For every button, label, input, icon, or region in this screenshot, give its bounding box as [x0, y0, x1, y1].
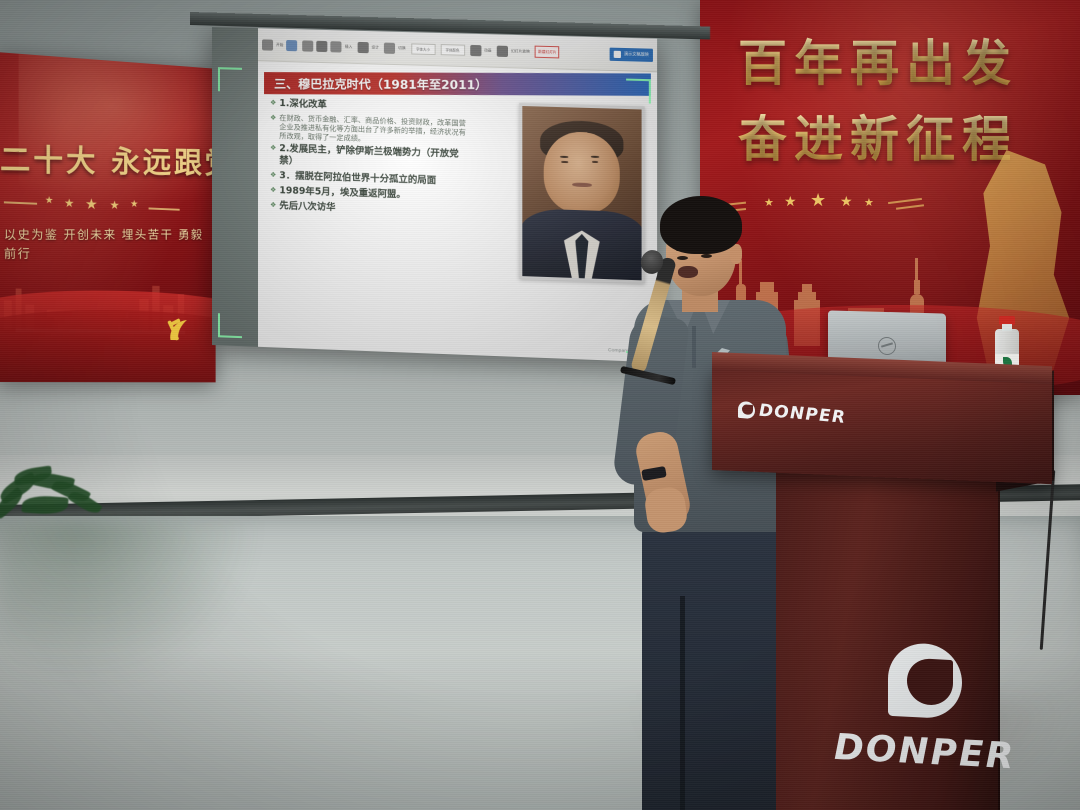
lectern: DONPER DONPER	[712, 352, 1052, 810]
lecture-hall-photo: 迎二十大 永远跟党走 ★ ★ ★ ★ ★ 以史为鉴 开创未来 埋头苦干 勇毅前行	[0, 0, 1080, 810]
account-avatar-icon	[614, 50, 621, 57]
lectern-brand-large: DONPER	[834, 639, 1015, 777]
shirt-placket	[692, 326, 696, 368]
list-item: ❖ 2.发展民主，铲除伊斯兰极端势力（开放党禁）	[270, 143, 467, 173]
lectern-column: DONPER	[776, 464, 998, 810]
portrait-face	[544, 130, 620, 214]
hammer-sickle-icon	[163, 311, 199, 350]
bullet-text: 1989年5月，埃及重返阿盟。	[279, 185, 405, 201]
potted-plant	[0, 452, 132, 532]
banner-left: 迎二十大 永远跟党走 ★ ★ ★ ★ ★ 以史为鉴 开创未来 埋头苦干 勇毅前行	[0, 52, 216, 382]
cut-icon[interactable]	[262, 39, 273, 50]
ribbon-group-transition[interactable]: 切换	[384, 42, 406, 54]
bullet-marker: ❖	[270, 185, 276, 197]
ribbon-label-1: 插入	[345, 44, 352, 49]
shape-icon[interactable]	[331, 41, 342, 52]
list-item: ❖ 先后八次访华	[270, 200, 467, 219]
slide-bullet-list: ❖ 1.深化改革 ❖ 在财政、货币金融、汇率、商品价格、投资财政，改革国营企业及…	[270, 98, 467, 221]
lectern-wordmark-small: DONPER	[759, 401, 846, 428]
donper-logo-icon	[738, 400, 755, 418]
bullet-text: 2.发展民主，铲除伊斯兰极端势力（开放党禁）	[279, 143, 467, 173]
presenter-hair	[660, 196, 742, 254]
floor-reflection-plant	[0, 520, 260, 690]
image-icon[interactable]	[317, 40, 328, 51]
banner-right-line1: 百年再出发	[738, 24, 1018, 95]
list-item: ❖ 在财政、货币金融、汇率、商品价格、投资财政，改革国营企业及推进私有化等方面出…	[270, 113, 467, 146]
bullet-text: 1.深化改革	[279, 98, 326, 111]
theme-icon[interactable]	[357, 41, 368, 52]
banner-left-skyline	[0, 232, 216, 382]
alignment-marker-top-left	[218, 67, 242, 92]
bullet-marker: ❖	[270, 170, 276, 182]
animation-icon[interactable]	[470, 44, 481, 55]
ribbon-label-0: 开始	[276, 42, 283, 47]
account-chip[interactable]: 演示文稿放映	[610, 47, 653, 61]
bullet-marker: ❖	[270, 98, 276, 110]
trouser-seam	[680, 596, 685, 810]
bullet-marker: ❖	[270, 143, 276, 167]
alignment-marker-top-right	[626, 79, 651, 104]
ribbon-group-start[interactable]: 开始	[262, 39, 298, 51]
lectern-wordmark-large: DONPER	[834, 727, 1015, 777]
font-color-box[interactable]: 字体颜色	[440, 44, 464, 56]
bullet-marker: ❖	[270, 200, 276, 212]
account-chip-label: 演示文稿放映	[624, 51, 649, 58]
presenter-mouth	[678, 266, 698, 278]
ribbon-label-4: 动画	[484, 48, 492, 53]
ribbon-label-5: 幻灯片放映	[511, 49, 530, 55]
bullet-text: 在财政、货币金融、汇率、商品价格、投资财政，改革国营企业及推进私有化等方面出台了…	[279, 113, 467, 146]
slide-title-text: 三、穆巴拉克时代（1981年至2011）	[274, 75, 487, 93]
ribbon-label-2: 设计	[372, 45, 379, 50]
slideshow-icon[interactable]	[497, 45, 508, 56]
banner-right-line2: 奋进新征程	[738, 100, 1018, 171]
bullet-marker: ❖	[270, 113, 276, 140]
bullet-text: 3．摆脱在阿拉伯世界十分孤立的局面	[279, 170, 436, 187]
text-box-icon[interactable]	[303, 40, 314, 51]
presenter-ear	[730, 244, 742, 264]
font-size-box[interactable]: 字体大小	[411, 43, 435, 55]
ribbon-group-design[interactable]: 设计	[357, 41, 379, 53]
alignment-marker-bottom-left	[218, 313, 242, 338]
new-slide-button[interactable]: 新建幻灯片	[535, 46, 560, 59]
projection-screen: 开始 插入 设计 切换 字体大小 字体颜色	[212, 27, 657, 362]
ribbon-label-3: 切换	[398, 45, 405, 50]
ribbon-group-slideshow[interactable]: 幻灯片放映	[497, 45, 530, 57]
powerpoint-window: 开始 插入 设计 切换 字体大小 字体颜色	[258, 28, 657, 362]
transition-icon[interactable]	[384, 42, 395, 53]
bullet-text: 先后八次访华	[279, 200, 335, 214]
lectern-front-panel: DONPER	[712, 366, 1052, 484]
donper-logo-icon	[888, 642, 962, 720]
copy-icon[interactable]	[286, 39, 297, 50]
slide-title-bar: 三、穆巴拉克时代（1981年至2011）	[264, 72, 651, 96]
lectern-brand-small: DONPER	[738, 399, 846, 428]
ribbon-group-insert[interactable]: 插入	[303, 40, 353, 52]
banner-left-headline: 迎二十大 永远跟党走	[0, 134, 216, 183]
ribbon-group-animation[interactable]: 动画	[470, 44, 492, 56]
slide-canvas: 三、穆巴拉克时代（1981年至2011） ❖ 1.深化改革 ❖ 在财政、货币金融…	[258, 61, 657, 362]
